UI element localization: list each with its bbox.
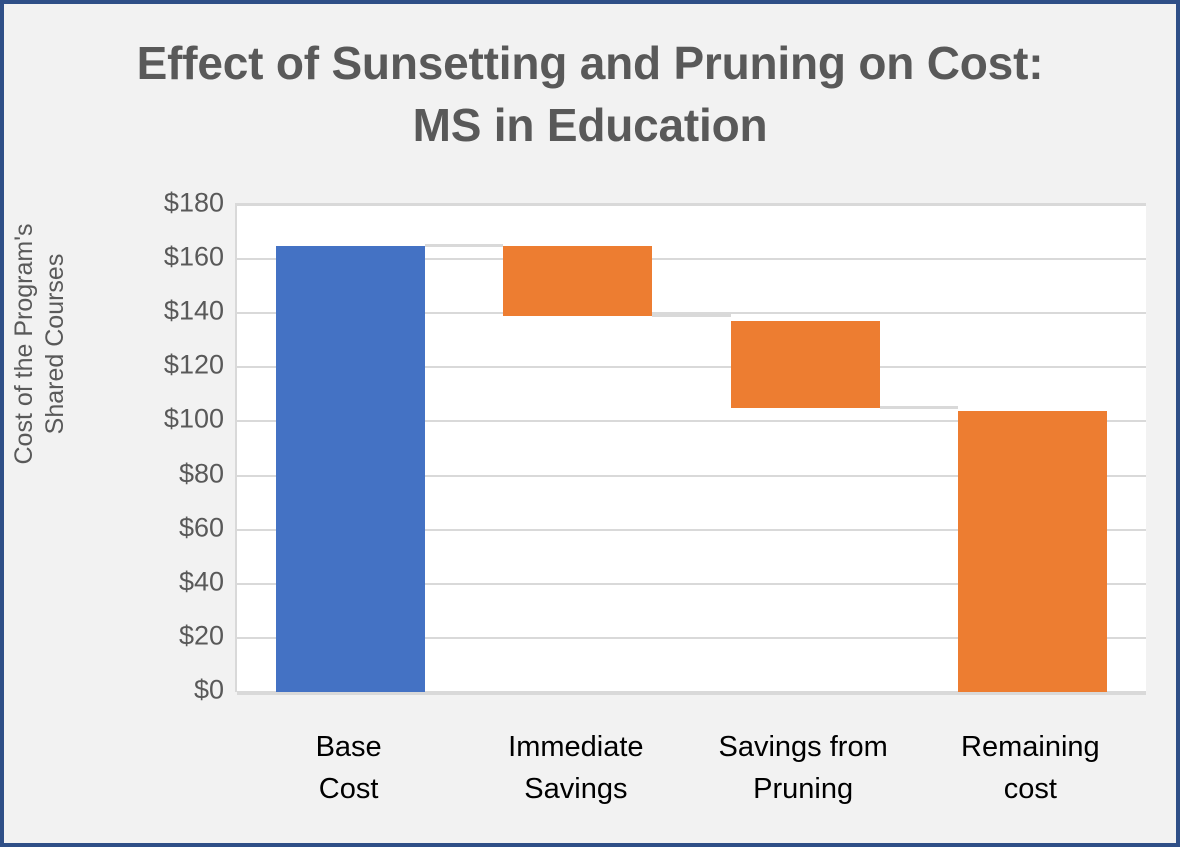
chart-container: Effect of Sunsetting and Pruning on Cost…	[0, 0, 1180, 847]
y-axis-tick-label: $80	[124, 460, 224, 487]
chart-title-line-2: MS in Education	[54, 94, 1126, 156]
bar-base-cost[interactable]	[276, 246, 425, 692]
x-axis-tick-labels: BaseCostImmediateSavingsSavings fromPrun…	[235, 726, 1144, 826]
x-axis-tick-label-line: Savings	[462, 768, 689, 810]
y-axis-tick-label: $40	[124, 568, 224, 595]
x-axis-line	[237, 692, 1146, 695]
y-axis-title: Cost of the Program's Shared Courses	[9, 189, 109, 499]
y-axis-title-line-1: Cost of the Program's	[9, 189, 40, 499]
y-axis-title-line-2: Shared Courses	[40, 189, 71, 499]
y-axis-tick-label: $140	[124, 298, 224, 325]
y-axis-tick-label: $60	[124, 514, 224, 541]
bar-remaining-cost[interactable]	[958, 411, 1107, 692]
chart-title-line-1: Effect of Sunsetting and Pruning on Cost…	[54, 32, 1126, 94]
y-axis-tick-label: $120	[124, 352, 224, 379]
x-axis-tick-label-line: Cost	[235, 768, 462, 810]
x-axis-tick-label-line: cost	[917, 768, 1144, 810]
y-axis-tick-label: $20	[124, 622, 224, 649]
y-axis-tick-label: $160	[124, 244, 224, 271]
x-axis-tick-label: BaseCost	[235, 726, 462, 810]
x-axis-tick-label-line: Immediate	[462, 726, 689, 768]
x-axis-tick-label: Savings fromPruning	[690, 726, 917, 810]
x-axis-tick-label-line: Savings from	[690, 726, 917, 768]
y-axis-tick-label: $100	[124, 406, 224, 433]
x-axis-tick-label-line: Base	[235, 726, 462, 768]
bar-immediate-savings[interactable]	[503, 246, 652, 316]
x-axis-tick-label-line: Remaining	[917, 726, 1144, 768]
x-axis-tick-label: ImmediateSavings	[462, 726, 689, 810]
x-axis-tick-label-line: Pruning	[690, 768, 917, 810]
plot-area	[235, 203, 1146, 692]
y-axis-tick-labels: $0$20$40$60$80$100$120$140$160$180	[124, 203, 224, 690]
bar-savings-from-pruning[interactable]	[731, 321, 880, 408]
gridline	[237, 204, 1146, 206]
waterfall-connector	[425, 244, 503, 247]
waterfall-connector	[652, 314, 730, 317]
waterfall-connector	[880, 406, 958, 409]
y-axis-tick-label: $0	[124, 677, 224, 704]
chart-title: Effect of Sunsetting and Pruning on Cost…	[54, 32, 1126, 156]
y-axis-tick-label: $180	[124, 190, 224, 217]
x-axis-tick-label: Remainingcost	[917, 726, 1144, 810]
